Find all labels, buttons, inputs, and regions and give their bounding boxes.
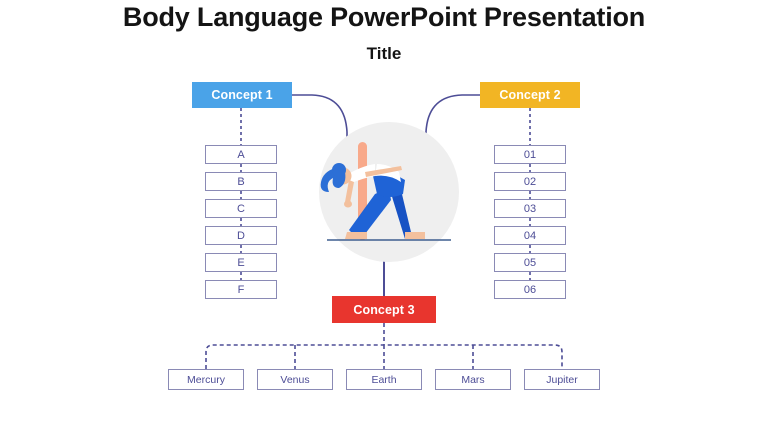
concept-2-header[interactable]: Concept 2: [480, 82, 580, 108]
page-subtitle: Title: [0, 44, 768, 64]
concept-3-header[interactable]: Concept 3: [332, 296, 436, 323]
left-item-f[interactable]: F: [205, 280, 277, 299]
concept-1-header[interactable]: Concept 1: [192, 82, 292, 108]
left-item-b[interactable]: B: [205, 172, 277, 191]
left-item-e[interactable]: E: [205, 253, 277, 272]
bottom-item-mars[interactable]: Mars: [435, 369, 511, 390]
right-item-04[interactable]: 04: [494, 226, 566, 245]
bottom-item-jupiter[interactable]: Jupiter: [524, 369, 600, 390]
yoga-triangle-pose-illustration: [305, 120, 473, 270]
left-item-c[interactable]: C: [205, 199, 277, 218]
bottom-item-earth[interactable]: Earth: [346, 369, 422, 390]
right-item-02[interactable]: 02: [494, 172, 566, 191]
slide-canvas: Body Language PowerPoint Presentation Ti…: [0, 0, 768, 432]
left-item-d[interactable]: D: [205, 226, 277, 245]
left-item-a[interactable]: A: [205, 145, 277, 164]
right-item-03[interactable]: 03: [494, 199, 566, 218]
page-title: Body Language PowerPoint Presentation: [0, 2, 768, 33]
figure-hand: [344, 201, 352, 208]
figure-hair-top: [332, 163, 346, 177]
bottom-item-venus[interactable]: Venus: [257, 369, 333, 390]
figure-back-foot: [345, 232, 367, 239]
right-item-06[interactable]: 06: [494, 280, 566, 299]
bottom-item-mercury[interactable]: Mercury: [168, 369, 244, 390]
dash-bottom-bus: [206, 345, 562, 369]
right-item-05[interactable]: 05: [494, 253, 566, 272]
figure-front-foot: [405, 232, 425, 239]
right-item-01[interactable]: 01: [494, 145, 566, 164]
